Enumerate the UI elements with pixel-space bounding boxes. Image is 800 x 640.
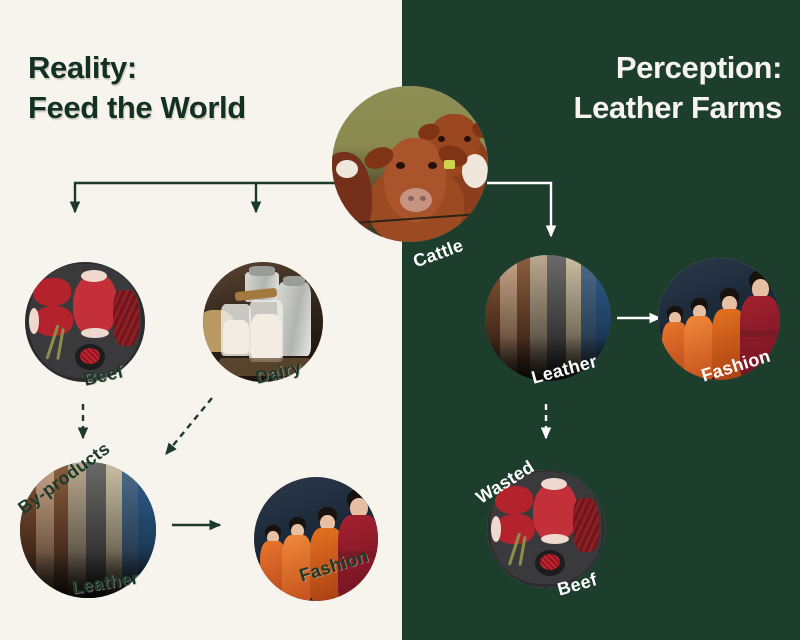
dairy-photo [203,262,323,382]
heading-reality: Reality: Feed the World [28,48,246,127]
cattle-photo [332,86,488,242]
heading-perception: Perception: Leather Farms [574,48,782,127]
infographic-canvas: Reality: Feed the World Perception: Leat… [0,0,800,640]
beef-photo [25,262,145,382]
